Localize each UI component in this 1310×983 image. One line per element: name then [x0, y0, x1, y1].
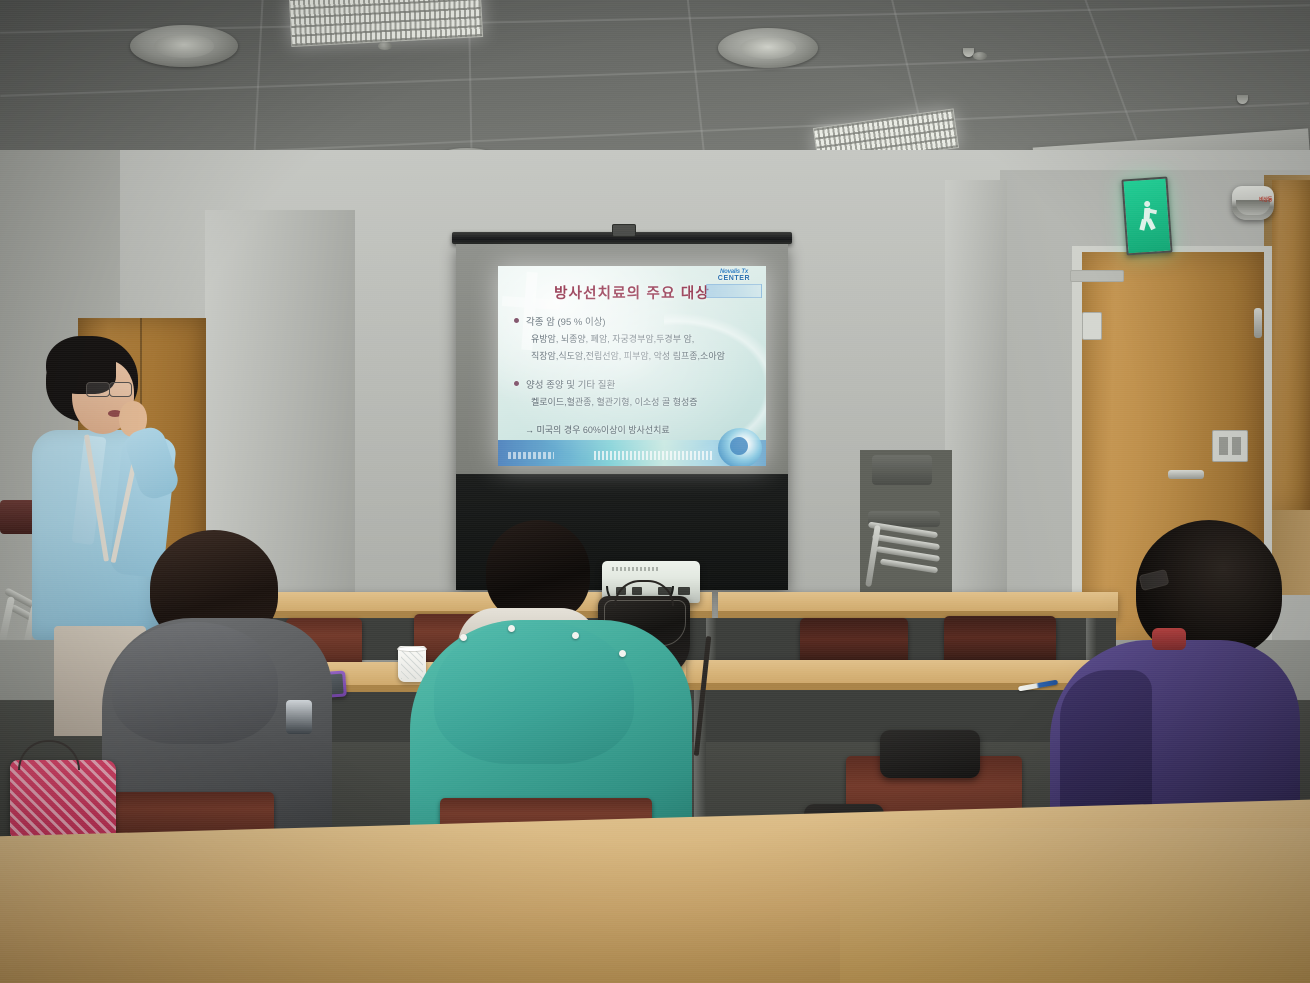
slide-footer-text [508, 452, 554, 459]
slide-conclusion: → 미국의 경우 60%이상이 방사선치료 [525, 423, 670, 436]
hood-snap-button [508, 625, 515, 632]
bullet-marker-icon [514, 318, 519, 323]
wall-switch-plate[interactable] [1212, 430, 1248, 462]
screen-pull-knob[interactable] [612, 224, 636, 237]
presenter-glasses [86, 382, 110, 397]
slide-bullet-2-line-1: 켈로이드,혈관종, 혈관기형, 이소성 골 형성증 [531, 395, 698, 408]
wall-column [945, 180, 1007, 630]
door-handle[interactable] [1168, 470, 1204, 479]
bag-black-floor [880, 730, 980, 778]
door-closer [1070, 270, 1124, 282]
table-foreground-right [840, 828, 1310, 983]
hood-snap-button [460, 634, 467, 641]
hood-snap-button [572, 632, 579, 639]
smoke-detector [973, 52, 987, 60]
slide-bullet-1-line-2: 직장암,식도암,전립선암, 피부암, 악성 림프종,소아암 [531, 349, 725, 362]
bullet-marker-icon [514, 381, 519, 386]
slide-bullet-1-line-1: 유방암, 뇌종양, 폐암, 자궁경부암,두경부 암, [531, 332, 694, 345]
attendee-gray-hood [112, 622, 278, 744]
bag-pink-pattern [10, 760, 116, 838]
slide-bullet-1-heading: 각종 암 (95 % 이상) [526, 314, 606, 328]
attendee-teal-hood [434, 620, 634, 764]
presenter-glasses [109, 382, 132, 397]
door-far-right[interactable] [1272, 180, 1310, 510]
exit-sign [1121, 176, 1172, 255]
slide-bullet-2-heading: 양성 종양 및 기타 질환 [526, 377, 615, 391]
running-man-icon [1136, 200, 1158, 231]
ceiling-downlight [718, 28, 818, 68]
slide-logo: Novalis Tx CENTER [706, 269, 762, 298]
hood-snap-button [619, 650, 626, 657]
ceiling-downlight [130, 25, 238, 67]
wall-outlet-plate[interactable] [1082, 312, 1102, 340]
door-hinge [1254, 308, 1262, 338]
emergency-light-label: 비상등 [1259, 196, 1272, 203]
smoke-detector [378, 42, 392, 50]
stacked-chairs [866, 455, 952, 600]
attendee-teal-hair [486, 520, 590, 622]
slide-bullet-2: 양성 종양 및 기타 질환 [514, 377, 615, 391]
attendee-purple-coat [1028, 510, 1310, 850]
attendee-purple-scarf [1152, 628, 1186, 650]
presentation-slide: 방사선치료의 주요 대상 Novalis Tx CENTER 각종 암 (95 … [498, 266, 766, 466]
slide-footer-pattern [594, 451, 714, 460]
slide-footer-band [498, 440, 766, 466]
slide-footer-swirl-logo [718, 428, 762, 466]
slide-logo-line2: CENTER [706, 275, 762, 282]
screen-roller-bar [452, 232, 792, 244]
attendee-gray-sleeve-patch [286, 700, 312, 734]
emergency-light: 비상등 [1232, 186, 1274, 220]
chair-rear-3[interactable] [800, 618, 908, 666]
slide-bullet-1: 각종 암 (95 % 이상) [514, 314, 606, 328]
photo-scene: 비상등 방사선치료의 주요 대상 Novalis Tx CENTER 각종 암 … [0, 0, 1310, 983]
slide-logo-bar [706, 284, 762, 298]
